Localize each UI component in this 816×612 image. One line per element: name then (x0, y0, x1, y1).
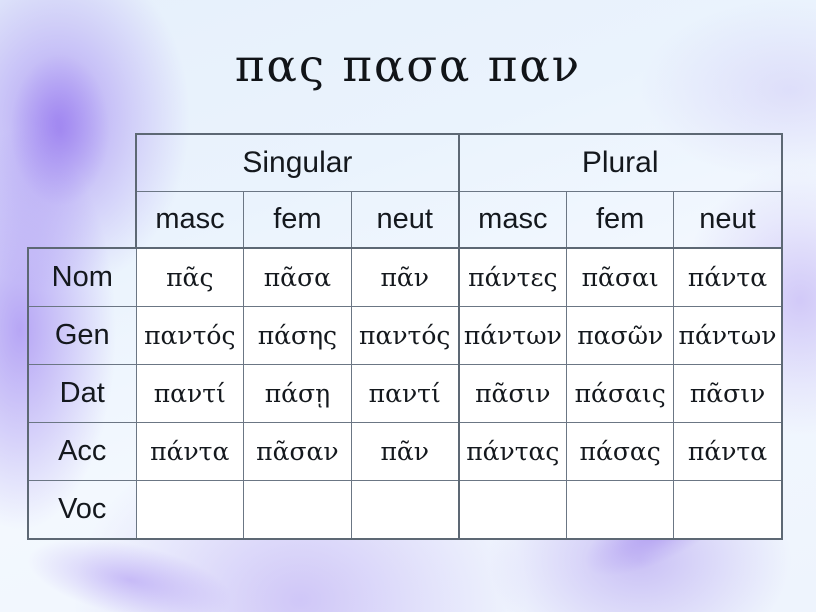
header-row-number: Singular Plural (28, 134, 782, 192)
cell-voc-sg-fem (244, 481, 352, 540)
slide: πας πασα παν Singular Plural masc fem ne… (0, 0, 816, 612)
header-sg-masc: masc (136, 192, 244, 249)
cell-gen-pl-masc: πάντων (459, 307, 567, 365)
cell-nom-sg-neut: πᾶν (351, 248, 459, 307)
cell-nom-pl-masc: πάντες (459, 248, 567, 307)
cell-acc-sg-fem: πᾶσαν (244, 423, 352, 481)
header-singular: Singular (136, 134, 459, 192)
cell-nom-pl-neut: πάντα (674, 248, 782, 307)
header-sg-fem: fem (244, 192, 352, 249)
cell-voc-pl-neut (674, 481, 782, 540)
header-sg-neut: neut (351, 192, 459, 249)
table-row: Dat παντί πάσῃ παντί πᾶσιν πάσαις πᾶσιν (28, 365, 782, 423)
cell-gen-pl-fem: πασῶν (566, 307, 674, 365)
row-label-acc: Acc (28, 423, 136, 481)
row-label-voc: Voc (28, 481, 136, 540)
header-pl-neut: neut (674, 192, 782, 249)
cell-dat-sg-neut: παντί (351, 365, 459, 423)
cell-gen-sg-fem: πάσης (244, 307, 352, 365)
cell-voc-sg-masc (136, 481, 244, 540)
cell-nom-sg-fem: πᾶσα (244, 248, 352, 307)
cell-voc-pl-masc (459, 481, 567, 540)
cell-gen-sg-masc: παντός (136, 307, 244, 365)
cell-dat-pl-neut: πᾶσιν (674, 365, 782, 423)
cell-acc-pl-neut: πάντα (674, 423, 782, 481)
header-plural: Plural (459, 134, 782, 192)
cell-gen-pl-neut: πάντων (674, 307, 782, 365)
row-label-gen: Gen (28, 307, 136, 365)
cell-acc-sg-masc: πάντα (136, 423, 244, 481)
table-row: Gen παντός πάσης παντός πάντων πασῶν πάν… (28, 307, 782, 365)
row-label-nom: Nom (28, 248, 136, 307)
cell-nom-pl-fem: πᾶσαι (566, 248, 674, 307)
cell-dat-sg-fem: πάσῃ (244, 365, 352, 423)
cell-dat-pl-masc: πᾶσιν (459, 365, 567, 423)
table-row: Acc πάντα πᾶσαν πᾶν πάντας πάσας πάντα (28, 423, 782, 481)
cell-nom-sg-masc: πᾶς (136, 248, 244, 307)
header-row-gender: masc fem neut masc fem neut (28, 192, 782, 249)
table-corner-blank-2 (28, 192, 136, 249)
page-title: πας πασα παν (0, 40, 816, 92)
cell-acc-pl-masc: πάντας (459, 423, 567, 481)
cell-voc-pl-fem (566, 481, 674, 540)
cell-acc-pl-fem: πάσας (566, 423, 674, 481)
cell-voc-sg-neut (351, 481, 459, 540)
header-pl-masc: masc (459, 192, 567, 249)
cell-acc-sg-neut: πᾶν (351, 423, 459, 481)
declension-table: Singular Plural masc fem neut masc fem n… (27, 133, 783, 540)
row-label-dat: Dat (28, 365, 136, 423)
table-corner-blank (28, 134, 136, 192)
cell-dat-sg-masc: παντί (136, 365, 244, 423)
cell-gen-sg-neut: παντός (351, 307, 459, 365)
table-row: Voc (28, 481, 782, 540)
cell-dat-pl-fem: πάσαις (566, 365, 674, 423)
table-row: Nom πᾶς πᾶσα πᾶν πάντες πᾶσαι πάντα (28, 248, 782, 307)
header-pl-fem: fem (566, 192, 674, 249)
